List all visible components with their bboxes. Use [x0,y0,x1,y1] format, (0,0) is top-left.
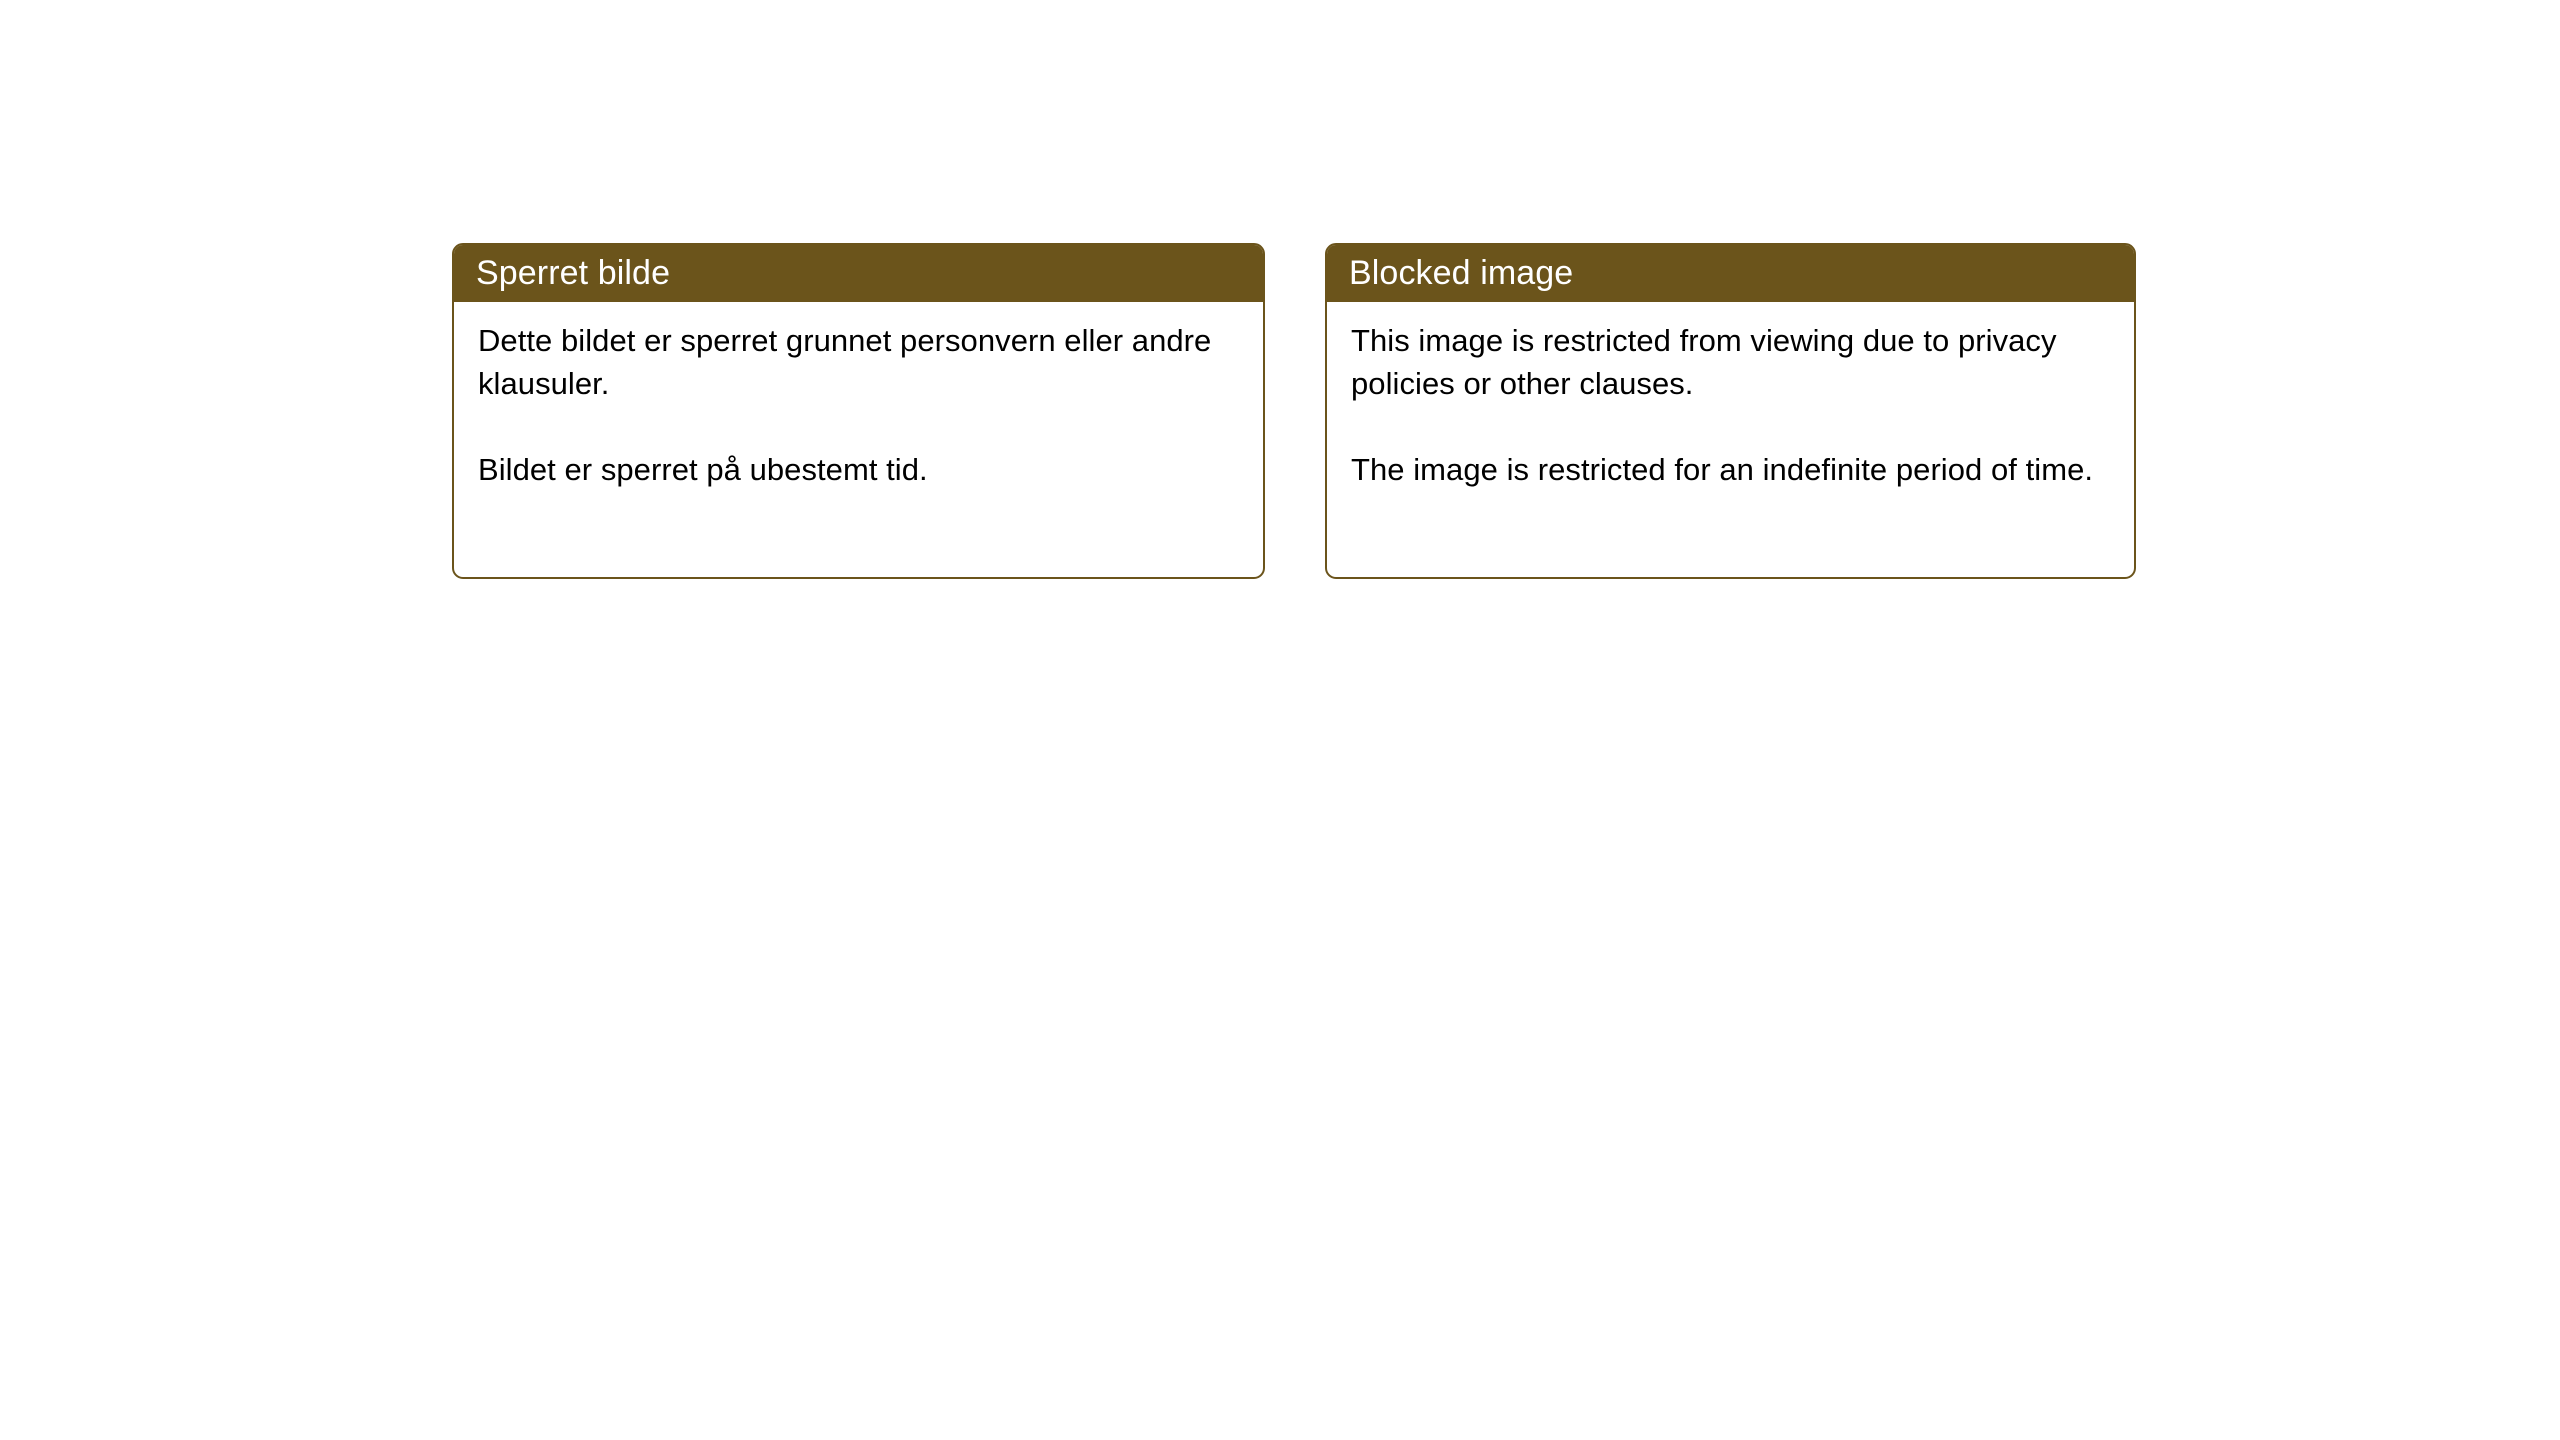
panel-paragraph-duration-english: The image is restricted for an indefinit… [1351,448,2108,491]
panel-paragraph-duration-norwegian: Bildet er sperret på ubestemt tid. [478,448,1237,491]
panel-body-english: This image is restricted from viewing du… [1327,302,2134,491]
blocked-image-notice-norwegian: Sperret bilde Dette bildet er sperret gr… [452,243,1265,579]
panel-title-norwegian: Sperret bilde [476,253,670,293]
panel-header-english: Blocked image [1325,243,2136,302]
panel-title-english: Blocked image [1349,253,1573,293]
panel-body-norwegian: Dette bildet er sperret grunnet personve… [454,302,1263,491]
panel-paragraph-reason-norwegian: Dette bildet er sperret grunnet personve… [478,319,1237,405]
page-canvas: Sperret bilde Dette bildet er sperret gr… [0,0,2560,1440]
blocked-image-notice-english: Blocked image This image is restricted f… [1325,243,2136,579]
panel-paragraph-reason-english: This image is restricted from viewing du… [1351,319,2108,405]
panel-header-norwegian: Sperret bilde [452,243,1265,302]
